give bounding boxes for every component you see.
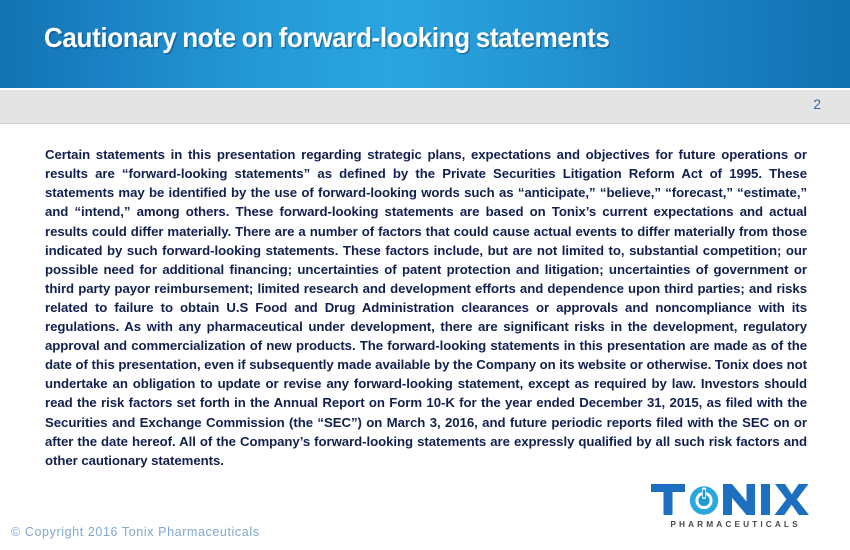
logo-tagline: PHARMACEUTICALS [652, 519, 816, 529]
page-number: 2 [813, 96, 821, 112]
logo-letters-icon [650, 480, 816, 516]
body-content: Certain statements in this presentation … [0, 124, 850, 484]
subheader-band: 2 [0, 90, 850, 124]
disclaimer-paragraph: Certain statements in this presentation … [45, 145, 807, 470]
copyright-notice: © Copyright 2016 Tonix Pharmaceuticals [11, 525, 260, 539]
tonix-logo: PHARMACEUTICALS [650, 480, 816, 536]
slide: Cautionary note on forward-looking state… [0, 0, 850, 550]
logo-wordmark: PHARMACEUTICALS [650, 480, 816, 516]
page-title: Cautionary note on forward-looking state… [44, 22, 609, 54]
